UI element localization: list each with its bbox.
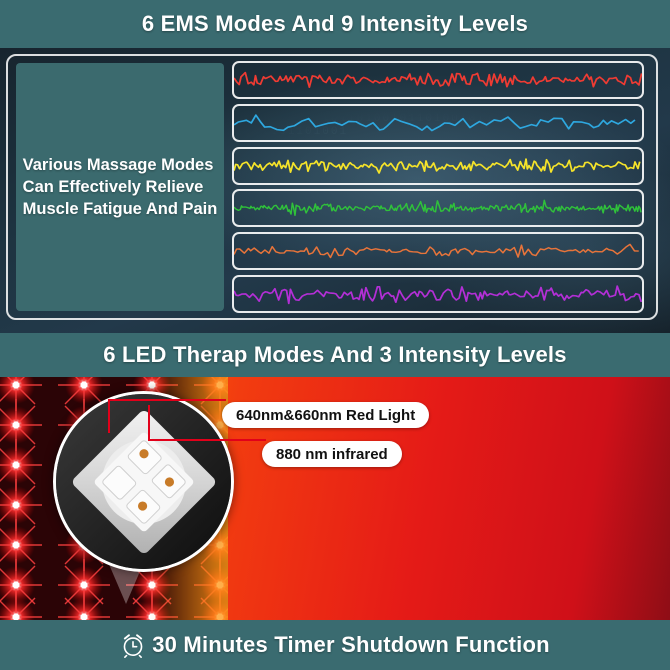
ems-header-bar: 6 EMS Modes And 9 Intensity Levels	[0, 0, 670, 48]
led-header-title: 6 LED Therap Modes And 3 Intensity Level…	[103, 342, 566, 368]
timer-footer-bar: 30 Minutes Timer Shutdown Function	[0, 620, 670, 670]
ems-header-title: 6 EMS Modes And 9 Intensity Levels	[142, 11, 528, 37]
alarm-clock-icon	[120, 632, 146, 658]
leader-line-infrared	[148, 439, 266, 441]
leader-line-red	[108, 399, 226, 401]
leader-line-red-vertical	[108, 399, 110, 433]
callout-red-light-label: 640nm&660nm Red Light	[236, 407, 415, 424]
timer-row: 30 Minutes Timer Shutdown Function	[120, 632, 550, 658]
callout-infrared: 880 nm infrared	[262, 441, 402, 467]
mode-4-waveform-row	[232, 189, 644, 227]
ems-section: 1011001010110010110100101011010011010010…	[0, 48, 670, 333]
mode-3-waveform-row	[232, 147, 644, 185]
led-magnifier	[53, 391, 234, 572]
callout-red-light: 640nm&660nm Red Light	[222, 402, 429, 428]
callout-infrared-label: 880 nm infrared	[276, 446, 388, 463]
mode-1-waveform-row	[232, 61, 644, 99]
led-chip-closeup	[56, 394, 231, 569]
ems-message-box: Various Massage Modes Can Effectively Re…	[16, 63, 224, 311]
timer-footer-title: 30 Minutes Timer Shutdown Function	[152, 632, 550, 658]
ems-message-text: Various Massage Modes Can Effectively Re…	[21, 154, 220, 220]
infographic-page: 6 EMS Modes And 9 Intensity Levels 10110…	[0, 0, 670, 670]
led-header-bar: 6 LED Therap Modes And 3 Intensity Level…	[0, 333, 670, 377]
mode-2-waveform-row	[232, 104, 644, 142]
leader-line-infrared-vertical	[148, 405, 150, 439]
mode-6-waveform-row	[232, 275, 644, 313]
waveform-list	[232, 61, 644, 313]
mode-5-waveform-row	[232, 232, 644, 270]
